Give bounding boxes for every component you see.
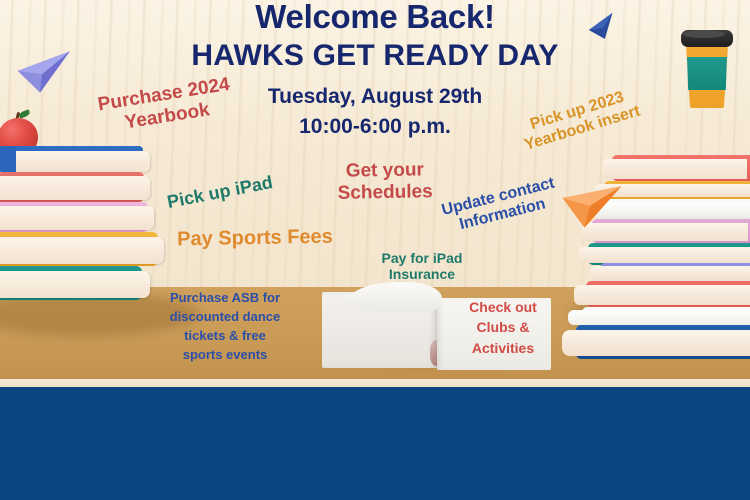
desk-edge-strip xyxy=(0,379,750,387)
book-navy xyxy=(576,325,750,359)
coffee-cup-icon xyxy=(684,30,730,110)
cup-lid-top xyxy=(683,30,725,38)
task-pay-ipad-insurance: Pay for iPad Insurance xyxy=(362,250,482,282)
book-blue xyxy=(0,146,143,172)
book-spine xyxy=(0,146,16,172)
book-pages xyxy=(574,285,750,305)
book-yellow xyxy=(0,232,158,266)
book-pages xyxy=(0,237,164,264)
welcome-back-flyer: Welcome Back! HAWKS GET READY DAY Tuesda… xyxy=(0,0,750,500)
book-periwinkle xyxy=(600,263,750,283)
book-teal xyxy=(0,266,142,300)
task-check-out-clubs: Check out Clubs & Activities xyxy=(448,297,558,358)
book-teal xyxy=(588,243,750,265)
cup-sleeve xyxy=(687,57,727,90)
page-title: Welcome Back! xyxy=(0,0,750,36)
book-pages xyxy=(0,271,150,298)
task-get-schedules: Get your Schedules xyxy=(305,159,466,205)
book-stack-icon-left xyxy=(0,118,170,308)
book-pages xyxy=(10,151,150,172)
task-pay-sports-fees: Pay Sports Fees xyxy=(160,225,350,251)
book-pages xyxy=(562,330,750,356)
book-pages xyxy=(0,206,154,230)
book-yellow xyxy=(604,181,750,199)
navy-footer-band xyxy=(0,387,750,500)
book-coral xyxy=(0,172,144,202)
book-pages xyxy=(568,310,750,325)
book-white-lower xyxy=(582,307,750,327)
paper-plane-icon-purple xyxy=(14,49,76,97)
book-pages xyxy=(602,159,747,179)
book-pink xyxy=(0,202,148,232)
book-red xyxy=(586,281,750,307)
book-coral xyxy=(612,155,750,181)
page-subtitle: HAWKS GET READY DAY xyxy=(0,38,750,74)
task-purchase-asb: Purchase ASB for discounted dance ticket… xyxy=(150,289,300,364)
book-pages xyxy=(578,247,750,263)
cup-lid xyxy=(681,30,733,47)
book-pages xyxy=(0,176,150,200)
book-pages xyxy=(590,266,750,281)
